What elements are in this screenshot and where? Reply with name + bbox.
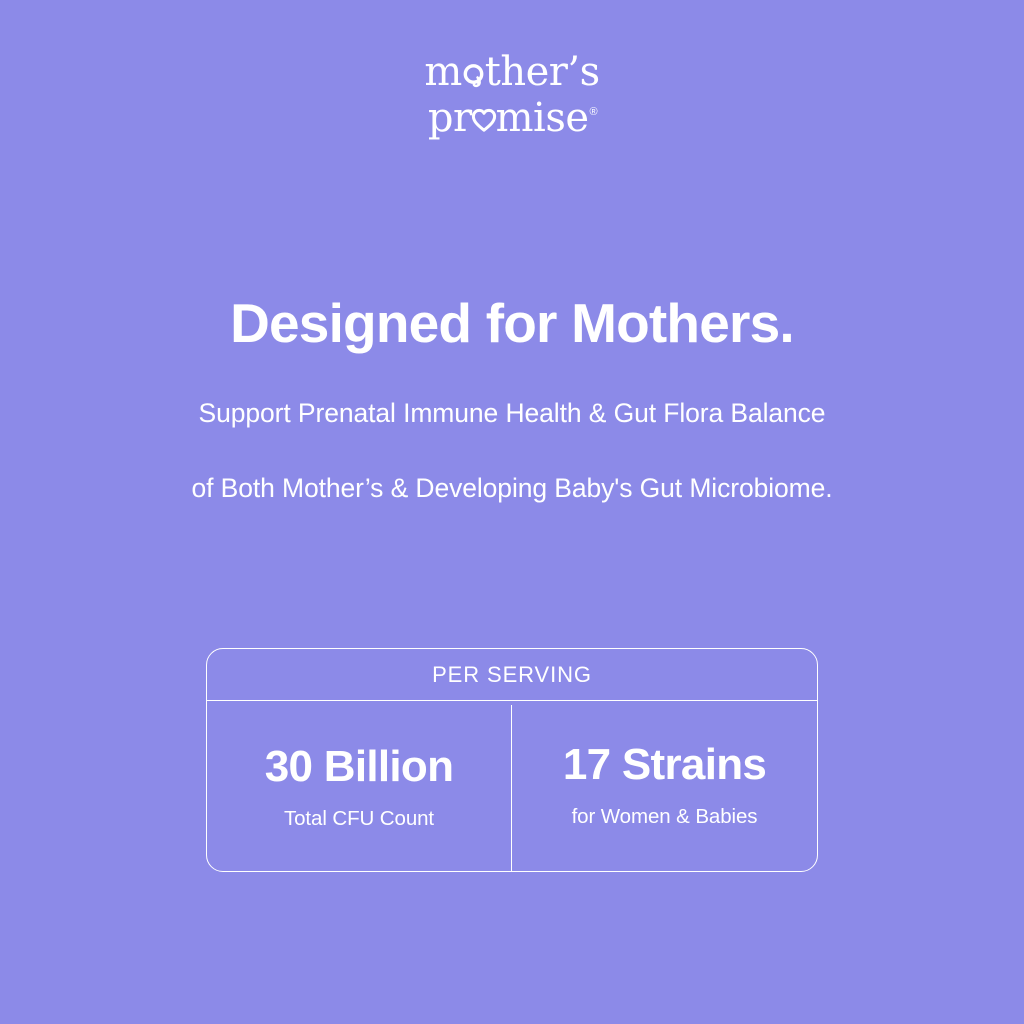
- logo-text-mise: mise: [496, 98, 589, 138]
- logo-line-promise: pr mise ®: [428, 98, 596, 144]
- card-header-label: PER SERVING: [207, 649, 817, 701]
- card-body: 30 Billion Total CFU Count 17 Strains fo…: [207, 701, 817, 871]
- stat-value: 17 Strains: [563, 741, 766, 789]
- logo-text-pr: pr: [428, 98, 472, 138]
- logo-text-thers: ther’s: [485, 52, 600, 92]
- promo-poster: m ther’s pr mise ® Designed for Mothers.…: [0, 0, 1024, 1024]
- logo-line-mothers: m ther’s: [424, 52, 599, 96]
- heart-o-icon: [471, 107, 497, 133]
- page-title: Designed for Mothers.: [0, 292, 1024, 355]
- curl-o-icon: [462, 63, 485, 88]
- per-serving-card: PER SERVING 30 Billion Total CFU Count 1…: [206, 648, 818, 872]
- brand-logo: m ther’s pr mise ®: [0, 52, 1024, 144]
- stat-column-strains: 17 Strains for Women & Babies: [512, 701, 817, 871]
- subheading-line-1: Support Prenatal Immune Health & Gut Flo…: [0, 398, 1024, 429]
- stat-column-cfu: 30 Billion Total CFU Count: [207, 705, 512, 871]
- logo-text-m: m: [424, 52, 461, 92]
- stat-label: for Women & Babies: [572, 805, 758, 829]
- stat-label: Total CFU Count: [284, 807, 434, 831]
- subheading-line-2: of Both Mother’s & Developing Baby's Gut…: [0, 473, 1024, 504]
- stat-value: 30 Billion: [265, 743, 454, 791]
- registered-trademark-icon: ®: [590, 107, 598, 118]
- subheading: Support Prenatal Immune Health & Gut Flo…: [0, 398, 1024, 504]
